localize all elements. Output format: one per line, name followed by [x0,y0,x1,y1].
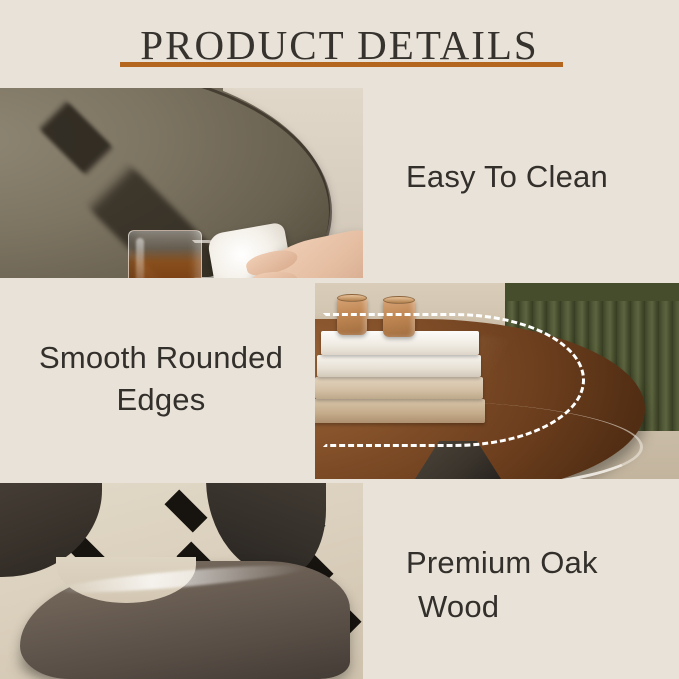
candle-rim [337,294,367,302]
feature-label-line: Edges [18,379,304,421]
feature-image-easy-to-clean [0,88,363,278]
feature-label-line: Premium Oak [406,545,598,580]
feature-label-easy-to-clean: Easy To Clean [406,157,666,197]
infographic-canvas: PRODUCT DETAILS Easy To Clean [0,0,679,679]
feature-label-smooth-rounded-edges: Smooth Rounded Edges [18,337,304,421]
feature-label-premium-oak-wood: Premium Oak Wood [406,541,656,629]
feature-label-line: Smooth Rounded [39,340,283,375]
glass-highlight [136,238,144,278]
title-underline [120,62,563,67]
feature-label-line: Wood [406,585,656,629]
feature-image-smooth-rounded-edges [315,283,679,479]
feature-image-premium-oak-wood [0,483,363,679]
rounded-edge-dashed-highlight [323,313,585,447]
feature-label-line: Easy To Clean [406,159,608,194]
candle-rim [383,296,415,304]
curtain-rod-header [505,283,679,301]
